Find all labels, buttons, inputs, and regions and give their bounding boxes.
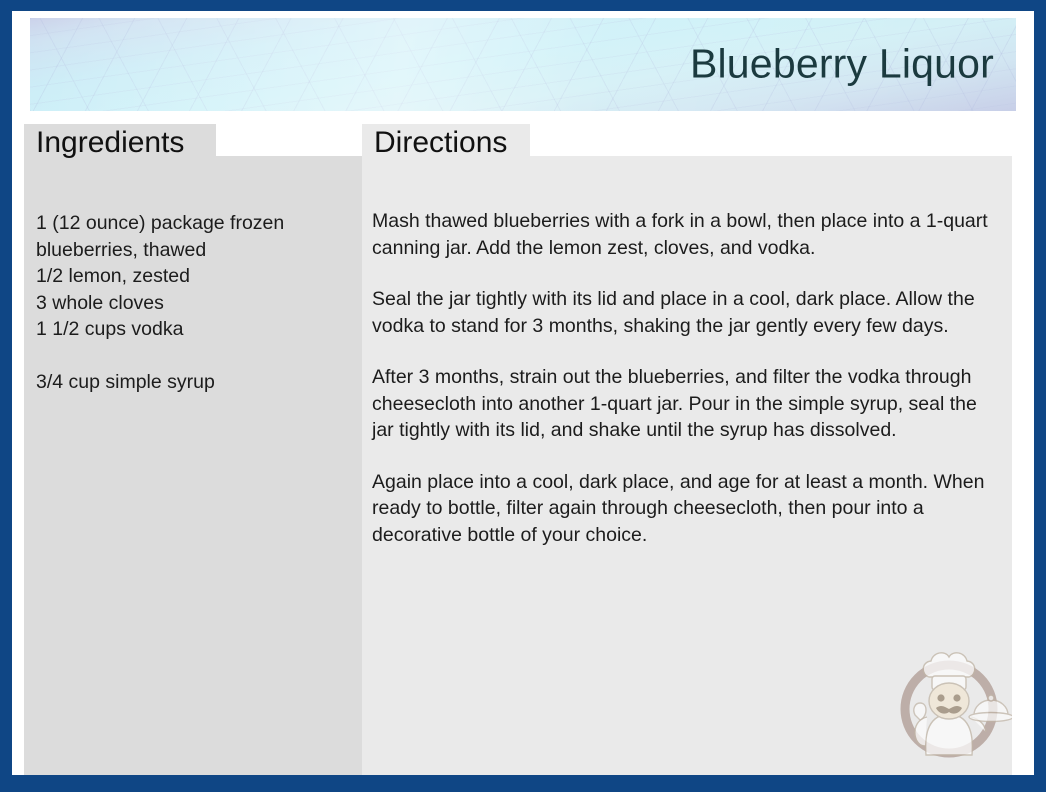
list-item: blueberries, thawed xyxy=(36,237,358,264)
ingredients-panel: Ingredients 1 (12 ounce) package frozen … xyxy=(24,124,368,775)
page-title: Blueberry Liquor xyxy=(690,42,994,85)
tab-directions-label: Directions xyxy=(374,126,507,160)
directions-text: Mash thawed blueberries with a fork in a… xyxy=(372,208,1000,548)
direction-paragraph: Again place into a cool, dark place, and… xyxy=(372,469,1000,549)
tab-ingredients-label: Ingredients xyxy=(36,126,184,160)
content-columns: Ingredients 1 (12 ounce) package frozen … xyxy=(12,124,1034,775)
list-spacer xyxy=(36,343,358,369)
list-item: 1/2 lemon, zested xyxy=(36,263,358,290)
recipe-page: Blueberry Liquor xyxy=(12,11,1034,775)
list-item: 3/4 cup simple syrup xyxy=(36,369,358,396)
ingredients-content: 1 (12 ounce) package frozen blueberries,… xyxy=(24,156,368,775)
list-item: 1 (12 ounce) package frozen xyxy=(36,210,358,237)
list-item: 3 whole cloves xyxy=(36,290,358,317)
direction-paragraph: Mash thawed blueberries with a fork in a… xyxy=(372,208,1000,261)
ingredients-list: 1 (12 ounce) package frozen blueberries,… xyxy=(36,210,358,395)
list-item: 1 1/2 cups vodka xyxy=(36,316,358,343)
header-banner: Blueberry Liquor xyxy=(30,18,1016,111)
direction-paragraph: Seal the jar tightly with its lid and pl… xyxy=(372,286,1000,339)
direction-paragraph: After 3 months, strain out the blueberri… xyxy=(372,364,1000,444)
chef-mascot-logo xyxy=(886,643,1012,769)
recipe-card-frame: Blueberry Liquor xyxy=(0,0,1046,792)
